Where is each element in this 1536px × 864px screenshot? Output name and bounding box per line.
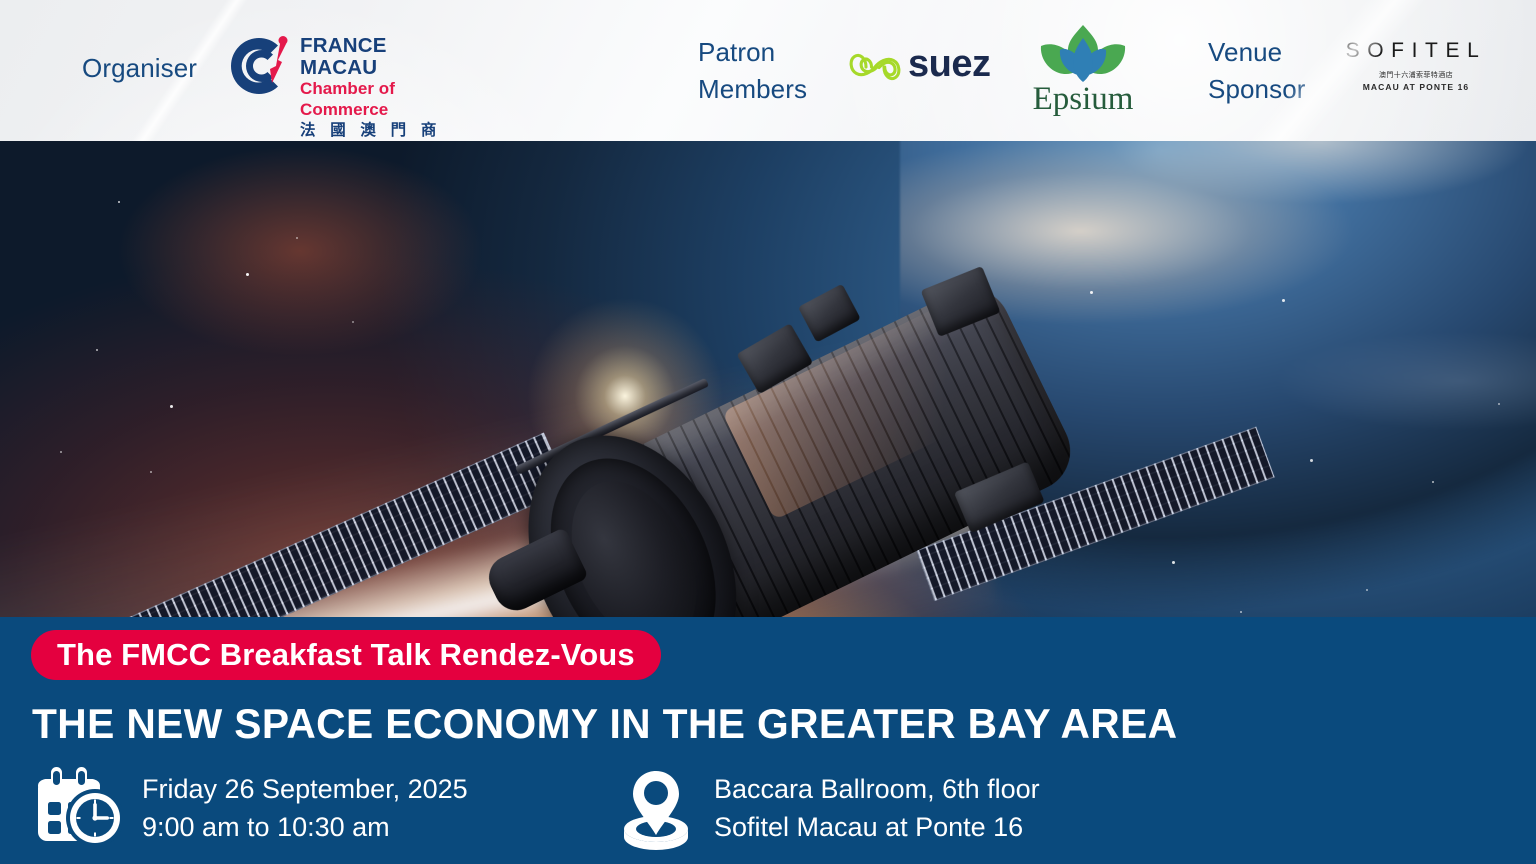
fmcc-line-2: Chamber of Commerce <box>300 79 456 120</box>
venue-sponsor-label: Venue Sponsor <box>1208 34 1306 108</box>
event-location-text: Baccara Ballroom, 6th floor Sofitel Maca… <box>714 770 1040 847</box>
organiser-label-text: Organiser <box>82 50 197 87</box>
event-details: Friday 26 September, 2025 9:00 am to 10:… <box>0 765 1536 864</box>
patron-members-label-text: Patron Members <box>698 34 807 108</box>
sponsor-header-bar: Organiser FRANCE MACAU Chamber of Commer… <box>0 0 1536 141</box>
event-info-banner: The FMCC Breakfast Talk Rendez-Vous THE … <box>0 617 1536 864</box>
event-location: Baccara Ballroom, 6th floor Sofitel Maca… <box>618 765 1040 851</box>
sofitel-property-subtitle: MACAU AT PONTE 16 <box>1336 82 1496 92</box>
fmcc-line-1: FRANCE MACAU <box>300 35 456 79</box>
series-badge-text: The FMCC Breakfast Talk Rendez-Vous <box>57 637 635 673</box>
fmcc-line-3-chinese: 法 國 澳 門 商 會 <box>300 121 456 141</box>
event-banner: Organiser FRANCE MACAU Chamber of Commer… <box>0 0 1536 864</box>
fmcc-wordmark: FRANCE MACAU Chamber of Commerce 法 國 澳 門… <box>300 35 456 141</box>
france-macau-chamber-of-commerce-logo: FRANCE MACAU Chamber of Commerce 法 國 澳 門… <box>228 33 456 106</box>
sofitel-logo: SOFITEL 澳門十六浦索菲特酒店 MACAU AT PONTE 16 <box>1336 40 1496 98</box>
fmcc-mark-icon <box>228 35 290 97</box>
event-title: THE NEW SPACE ECONOMY IN THE GREATER BAY… <box>32 700 1177 748</box>
suez-infinity-mark-icon <box>846 46 906 88</box>
sofitel-chinese-name: 澳門十六浦索菲特酒店 <box>1336 72 1496 80</box>
patron-members-label: Patron Members <box>698 34 807 108</box>
station-antenna-box-2 <box>798 284 861 343</box>
venue-sponsor-label-text: Venue Sponsor <box>1208 34 1306 108</box>
event-datetime-text: Friday 26 September, 2025 9:00 am to 10:… <box>142 770 468 847</box>
series-badge: The FMCC Breakfast Talk Rendez-Vous <box>31 630 661 680</box>
epsium-lotus-icon <box>1037 24 1129 86</box>
calendar-clock-icon <box>34 765 122 851</box>
space-station-orbiting-earth-photo <box>0 141 1536 617</box>
suez-wordmark: suez <box>908 45 990 83</box>
organiser-label: Organiser <box>82 50 197 87</box>
location-pin-icon <box>618 765 694 851</box>
epsium-logo: Epsium <box>1024 24 1142 118</box>
event-datetime: Friday 26 September, 2025 9:00 am to 10:… <box>34 765 468 851</box>
epsium-wordmark: Epsium <box>1024 82 1142 117</box>
suez-logo: suez <box>846 44 1004 94</box>
sofitel-wordmark: SOFITEL <box>1336 40 1496 61</box>
